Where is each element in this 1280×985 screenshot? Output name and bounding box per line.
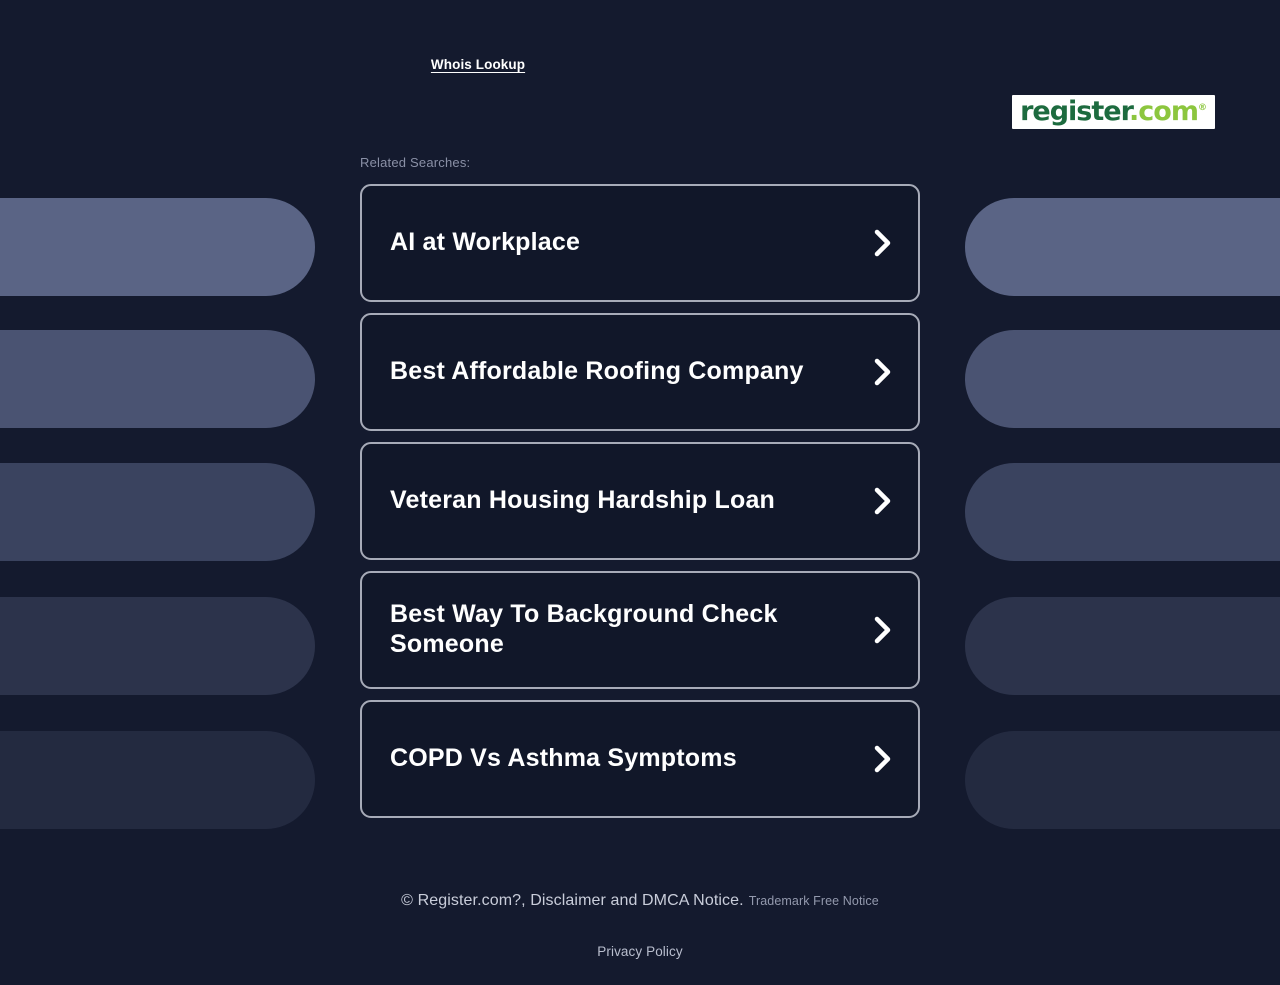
chevron-right-icon [872,228,894,258]
related-search-title: Best Affordable Roofing Company [390,357,804,387]
whois-lookup-container: Whois Lookup [0,56,1280,74]
chevron-right-icon [872,744,894,774]
deco-pill-right-4 [965,597,1280,695]
logo-text-register: register [1020,96,1129,127]
footer-line-primary: © Register.com?, Disclaimer and DMCA Not… [0,890,1280,912]
chevron-right-icon [872,486,894,516]
chevron-right-icon [872,357,894,387]
deco-pill-right-5 [965,731,1280,829]
registered-trademark-icon: ® [1198,103,1207,113]
copyright-disclaimer-link[interactable]: © Register.com?, Disclaimer and DMCA Not… [401,892,744,909]
related-search-card-1[interactable]: AI at Workplace [360,184,920,302]
deco-pill-right-3 [965,463,1280,561]
related-searches-label: Related Searches: [360,0,920,172]
page-footer: © Register.com?, Disclaimer and DMCA Not… [0,890,1280,961]
chevron-right-icon [872,615,894,645]
related-search-card-2[interactable]: Best Affordable Roofing Company [360,313,920,431]
related-search-card-3[interactable]: Veteran Housing Hardship Loan [360,442,920,560]
related-search-title: AI at Workplace [390,228,580,258]
related-search-title: Veteran Housing Hardship Loan [390,486,775,516]
deco-pill-left-3 [0,463,315,561]
deco-pill-left-4 [0,597,315,695]
deco-pill-left-2 [0,330,315,428]
related-search-title: Best Way To Background Check Someone [390,600,848,660]
logo-text-dotcom: .com [1129,96,1198,127]
whois-lookup-link[interactable]: Whois Lookup [431,57,525,72]
deco-pill-left-1 [0,198,315,296]
logo-text: register.com® [1020,96,1207,127]
privacy-policy-link[interactable]: Privacy Policy [597,944,682,959]
trademark-free-notice-link[interactable]: Trademark Free Notice [749,894,879,908]
parked-domain-page: Whois Lookup register.com® Related Searc… [0,0,1280,985]
register-com-logo[interactable]: register.com® [1012,95,1215,129]
footer-line-secondary: Privacy Policy [0,943,1280,961]
deco-pill-left-5 [0,731,315,829]
deco-pill-right-1 [965,198,1280,296]
related-search-title: COPD Vs Asthma Symptoms [390,744,737,774]
deco-pill-right-2 [965,330,1280,428]
related-search-card-4[interactable]: Best Way To Background Check Someone [360,571,920,689]
related-searches-list: AI at Workplace Best Affordable Roofing … [360,184,920,818]
related-search-card-5[interactable]: COPD Vs Asthma Symptoms [360,700,920,818]
main-column: Related Searches: AI at Workplace Best A… [360,0,920,818]
